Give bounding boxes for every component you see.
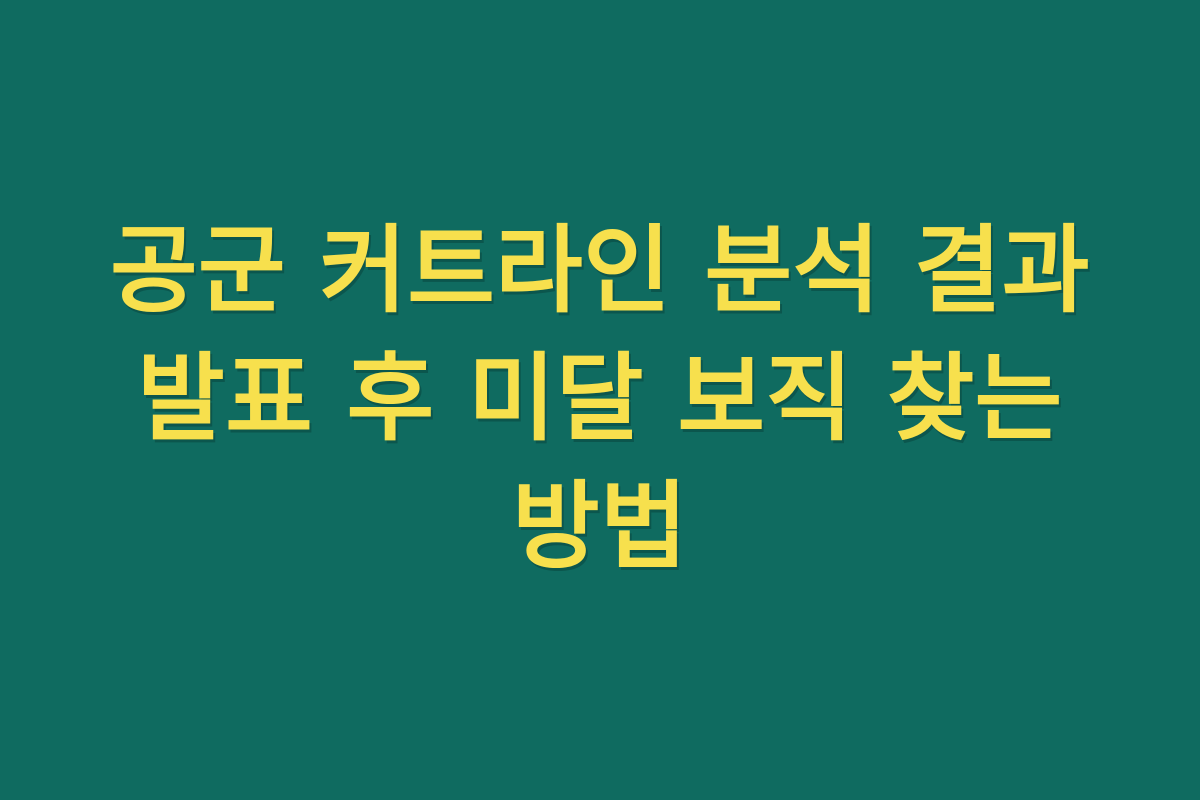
title-line-2: 발표 후 미달 보직 찾는 [137, 335, 1062, 463]
banner-canvas: 공군 커트라인 분석 결과 발표 후 미달 보직 찾는 방법 [0, 0, 1200, 800]
page-title: 공군 커트라인 분석 결과 발표 후 미달 보직 찾는 방법 [60, 207, 1140, 591]
title-line-1: 공군 커트라인 분석 결과 [110, 207, 1090, 335]
title-line-3: 방법 [512, 463, 688, 591]
